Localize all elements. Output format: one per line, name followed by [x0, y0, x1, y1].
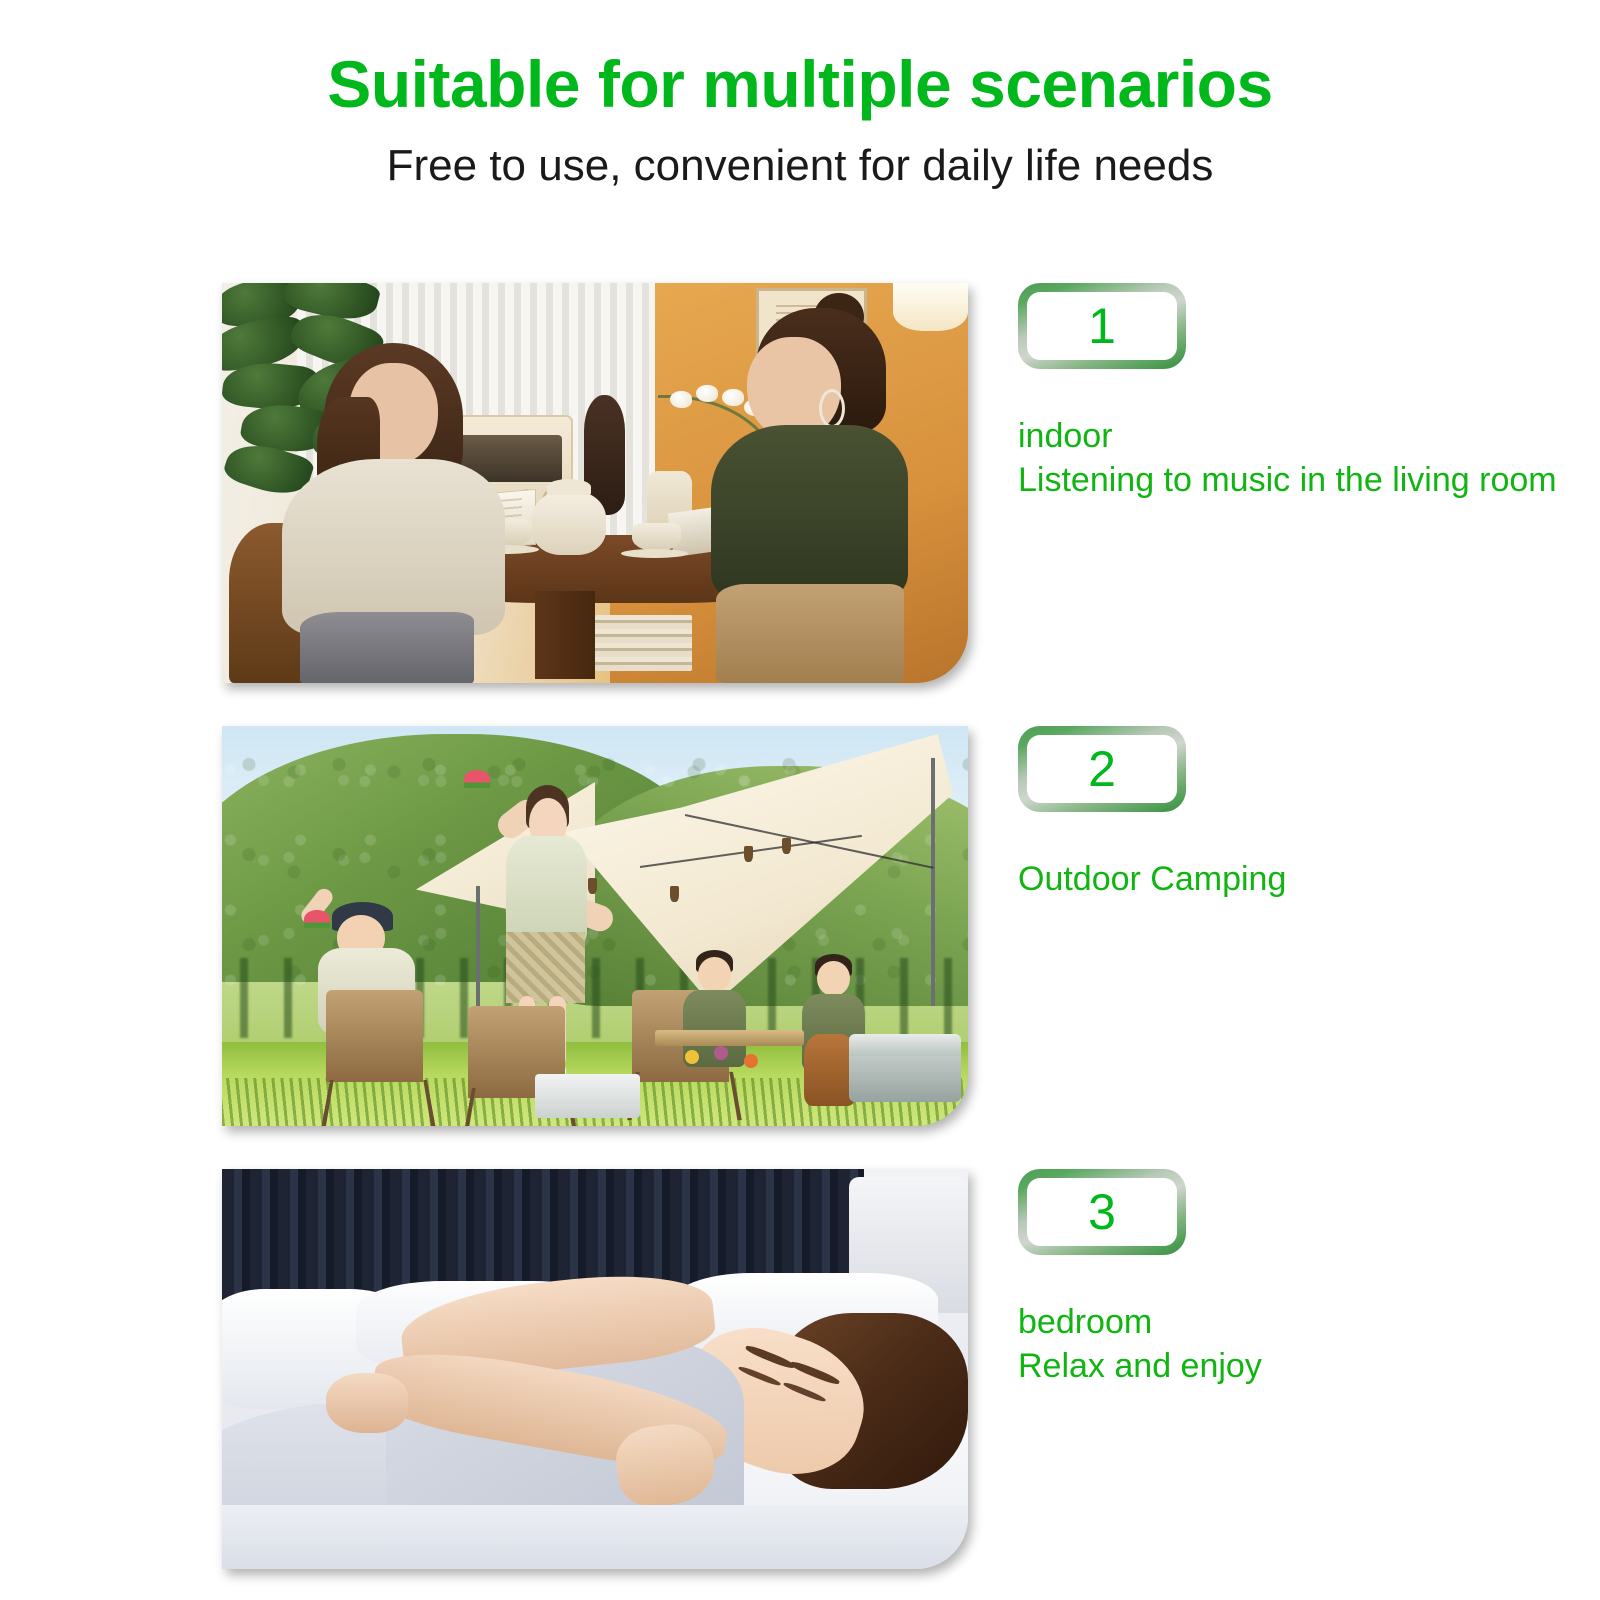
- scenario-info-2: 2 Outdoor Camping: [1018, 726, 1578, 902]
- scenario-title-3: bedroom: [1018, 1301, 1578, 1345]
- scenario-caption-1: indoor Listening to music in the living …: [1018, 415, 1578, 502]
- lantern-icon: [670, 886, 679, 902]
- person-reading-left: [282, 343, 506, 683]
- scenario-number-badge-1: 1: [1018, 283, 1186, 369]
- scenario-description-3: Relax and enjoy: [1018, 1345, 1578, 1389]
- scenario-photo-bedroom: [222, 1169, 968, 1569]
- camp-chair-icon: [326, 990, 423, 1082]
- scenario-number-1: 1: [1088, 301, 1116, 351]
- hand-icon: [326, 1373, 408, 1433]
- teapot-icon: [532, 491, 607, 555]
- outdoor-camping-illustration: [222, 726, 968, 1126]
- scenario-number-badge-3: 3: [1018, 1169, 1186, 1255]
- scenario-list: 1 indoor Listening to music in the livin…: [0, 283, 1600, 1569]
- page-subtitle: Free to use, convenient for daily life n…: [0, 122, 1600, 190]
- indoor-living-room-illustration: [222, 283, 968, 683]
- page-header: Suitable for multiple scenarios Free to …: [0, 0, 1600, 190]
- scenario-photo-camping: [222, 726, 968, 1126]
- scenario-number-2: 2: [1088, 744, 1116, 794]
- scenario-title-2: Outdoor Camping: [1018, 858, 1578, 902]
- picnic-table-icon: [655, 1030, 804, 1046]
- scenario-row: 3 bedroom Relax and enjoy: [0, 1169, 1600, 1569]
- scenario-row: 2 Outdoor Camping: [0, 726, 1600, 1126]
- scenario-description-1: Listening to music in the living room: [1018, 459, 1578, 503]
- scenario-row: 1 indoor Listening to music in the livin…: [0, 283, 1600, 683]
- page-title: Suitable for multiple scenarios: [0, 0, 1600, 122]
- lantern-icon: [782, 838, 791, 854]
- scenario-photo-indoor: [222, 283, 968, 683]
- scenario-info-3: 3 bedroom Relax and enjoy: [1018, 1169, 1578, 1388]
- cooler-box-icon: [849, 1034, 961, 1102]
- book-stack-icon: [595, 615, 692, 671]
- watermelon-icon: [464, 770, 490, 788]
- scenario-info-1: 1 indoor Listening to music in the livin…: [1018, 283, 1578, 502]
- scenario-caption-2: Outdoor Camping: [1018, 858, 1578, 902]
- watermelon-icon: [304, 910, 330, 928]
- scenario-title-1: indoor: [1018, 415, 1578, 459]
- scenario-number-3: 3: [1088, 1187, 1116, 1237]
- storage-crate-icon: [535, 1074, 639, 1118]
- bedroom-sleeping-illustration: [222, 1169, 968, 1569]
- scenario-caption-3: bedroom Relax and enjoy: [1018, 1301, 1578, 1388]
- person-reading-right: [707, 315, 931, 683]
- scenario-number-badge-2: 2: [1018, 726, 1186, 812]
- lantern-icon: [744, 846, 753, 862]
- teacup-icon: [632, 523, 680, 551]
